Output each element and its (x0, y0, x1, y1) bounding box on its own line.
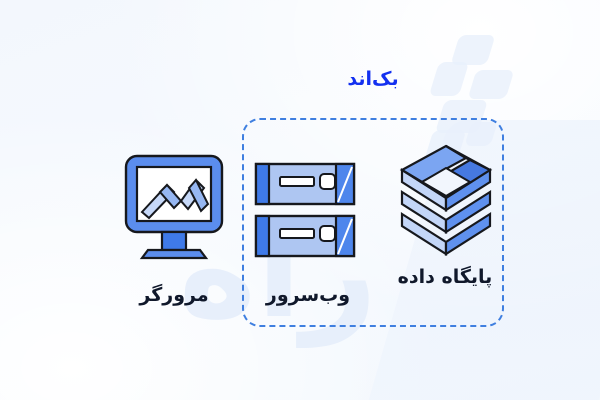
node-browser-label: مرورگر (108, 284, 240, 306)
server-rack-icon (252, 152, 364, 264)
monitor-browser-icon (108, 152, 240, 264)
node-browser[interactable]: مرورگر (108, 152, 240, 306)
node-webserver-label: وب‌سرور (252, 284, 364, 306)
database-stack-icon (386, 142, 504, 254)
node-database[interactable]: پایگاه داده (386, 142, 504, 288)
node-webserver[interactable]: وب‌سرور (252, 152, 364, 306)
backend-group-title: بک‌اند (242, 68, 504, 90)
diagram-canvas: راه بک‌اند مرورگر (0, 0, 600, 400)
node-database-label: پایگاه داده (386, 266, 504, 288)
